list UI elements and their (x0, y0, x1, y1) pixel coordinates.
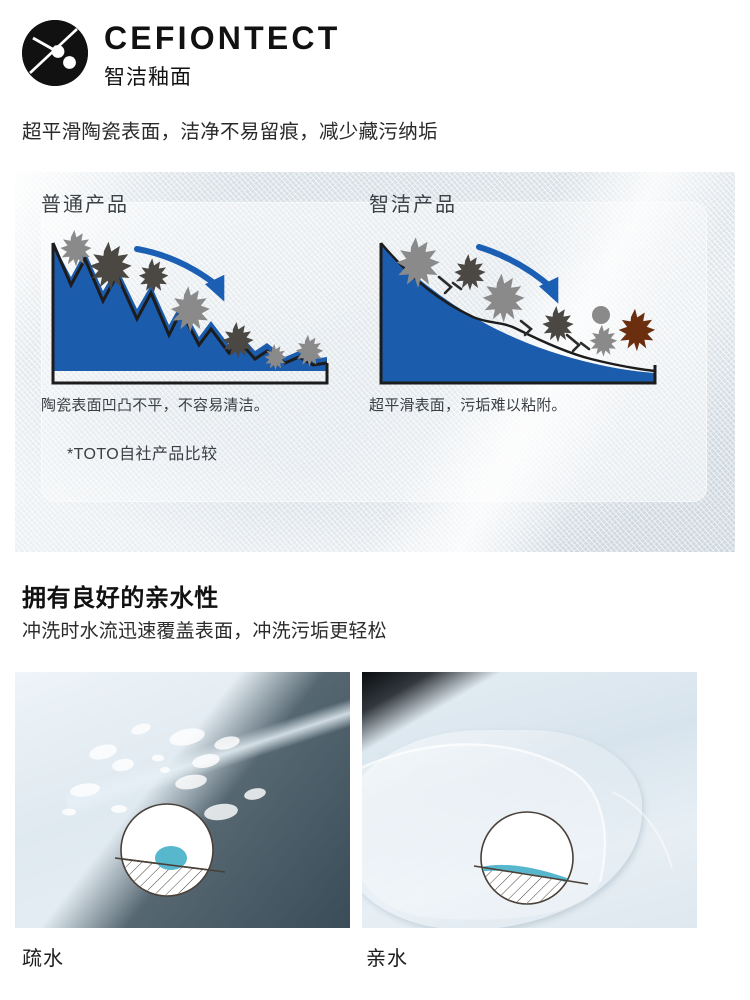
cefiontect-product-title: 智洁产品 (369, 188, 679, 217)
page-root: CEFIONTECT 智洁釉面 超平滑陶瓷表面，洁净不易留痕，减少藏污纳垢 普通… (0, 0, 750, 1000)
cefiontect-product-panel: 智洁产品 (369, 188, 679, 415)
hydrophobic-photo (15, 672, 350, 928)
hydrophilic-label: 亲水 (366, 942, 408, 971)
cefiontect-droplet-icon (22, 20, 88, 86)
photo-comparison-row (15, 672, 735, 928)
brand-text-block: CEFIONTECT 智洁釉面 (104, 18, 340, 91)
hydrophilic-section-title: 拥有良好的亲水性 (22, 578, 219, 613)
smooth-surface-illustration (369, 225, 669, 390)
ordinary-product-title: 普通产品 (41, 188, 351, 217)
ordinary-surface-illustration (41, 225, 341, 390)
diagram-footnote: *TOTO自社产品比较 (67, 440, 218, 464)
brand-header: CEFIONTECT 智洁釉面 (0, 0, 750, 91)
hydrophobic-label: 疏水 (22, 942, 64, 971)
hydrophilic-section-subtitle: 冲洗时水流迅速覆盖表面，冲洗污垢更轻松 (22, 616, 387, 643)
comparison-diagram-panel: 普通产品 (15, 172, 735, 552)
cefiontect-product-caption: 超平滑表面，污垢难以粘附。 (369, 394, 679, 415)
brand-name: CEFIONTECT (104, 22, 340, 56)
brand-name-cn: 智洁釉面 (104, 61, 340, 91)
hydrophilic-sheet-overlay (362, 672, 697, 928)
hydrophilic-photo (362, 672, 697, 928)
ordinary-product-panel: 普通产品 (41, 188, 351, 415)
lead-paragraph: 超平滑陶瓷表面，洁净不易留痕，减少藏污纳垢 (22, 115, 750, 144)
hydrophobic-droplets-overlay (15, 672, 350, 928)
ordinary-product-caption: 陶瓷表面凹凸不平，不容易清洁。 (41, 394, 351, 415)
